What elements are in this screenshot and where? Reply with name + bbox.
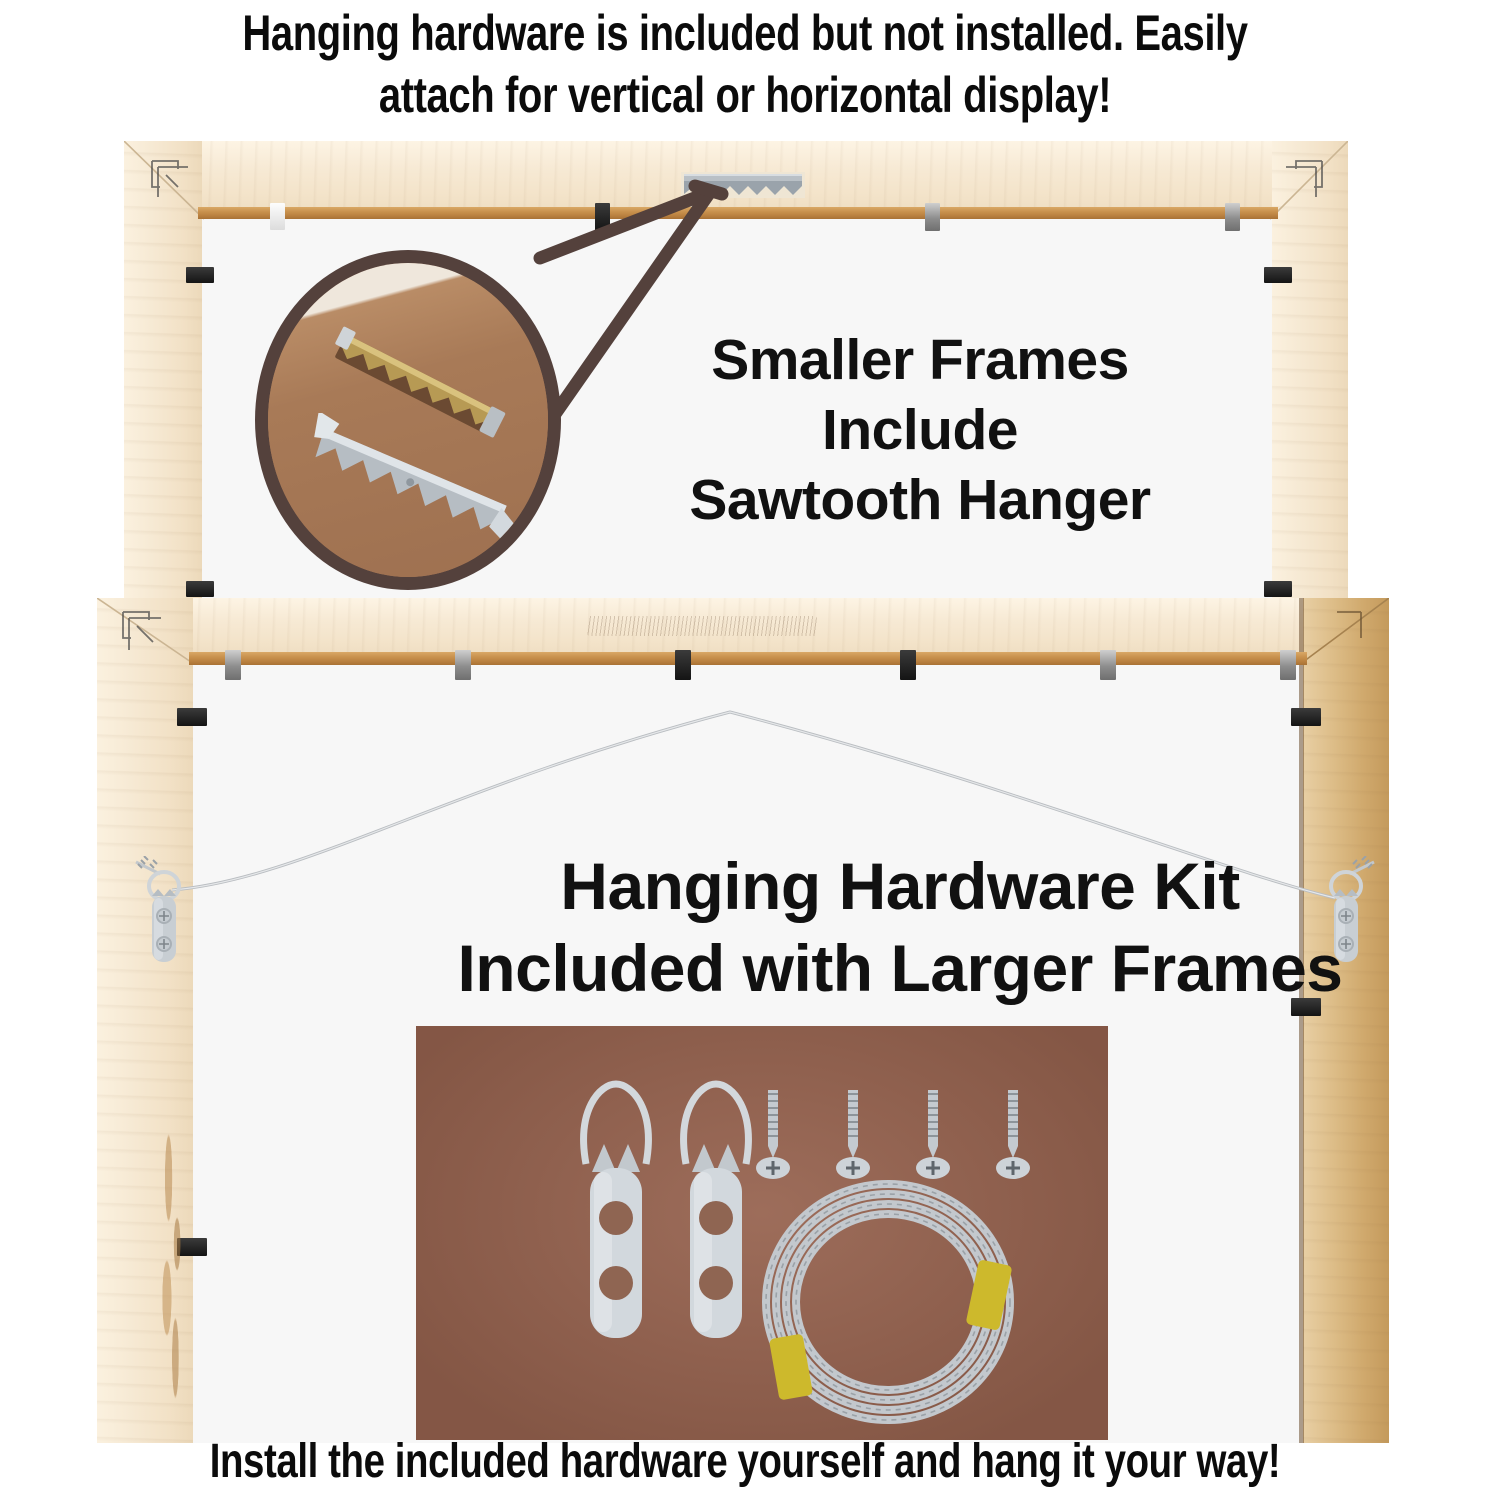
headline-text: Hanging hardware is included but not ins… xyxy=(149,2,1341,126)
sawtooth-hanger-magnifier xyxy=(255,250,561,590)
retaining-clip xyxy=(900,650,916,680)
d-ring-hanger-left xyxy=(128,856,200,996)
retaining-clip xyxy=(225,650,241,680)
frame-rail-right-upper xyxy=(1272,141,1348,621)
retaining-clip xyxy=(595,203,610,231)
inner-wood-lip-lower xyxy=(189,652,1307,665)
retaining-clip xyxy=(925,203,940,231)
retaining-clip xyxy=(1264,267,1292,283)
hanging-kit-caption: Hanging Hardware Kit Included with Large… xyxy=(330,845,1470,1009)
inner-wood-lip-upper xyxy=(198,207,1278,219)
retaining-clip xyxy=(186,267,214,283)
hanging-hardware-kit-photo xyxy=(416,1026,1108,1440)
retaining-clip xyxy=(270,203,285,230)
sawtooth-hanger-silver xyxy=(286,413,536,563)
retaining-clip xyxy=(455,650,471,680)
retaining-clip xyxy=(675,650,691,680)
sawtooth-hanger-installed xyxy=(681,172,805,198)
retaining-clip xyxy=(1280,650,1296,680)
retaining-clip xyxy=(1100,650,1116,680)
infographic-canvas: Hanging hardware is included but not ins… xyxy=(0,0,1490,1500)
retaining-clip xyxy=(186,581,214,597)
retaining-clip xyxy=(1291,708,1321,726)
retaining-clip xyxy=(1264,581,1292,597)
frame-rail-left-upper xyxy=(124,141,202,621)
rail-scuff-mark xyxy=(587,616,817,636)
retaining-clip xyxy=(177,708,207,726)
footer-text: Install the included hardware yourself a… xyxy=(149,1434,1341,1490)
retaining-clip xyxy=(1225,203,1240,231)
distressed-paint-chips xyxy=(155,1118,189,1418)
smaller-frames-caption: Smaller Frames Include Sawtooth Hanger xyxy=(600,325,1240,535)
kit-wire-coil xyxy=(726,1166,1056,1440)
